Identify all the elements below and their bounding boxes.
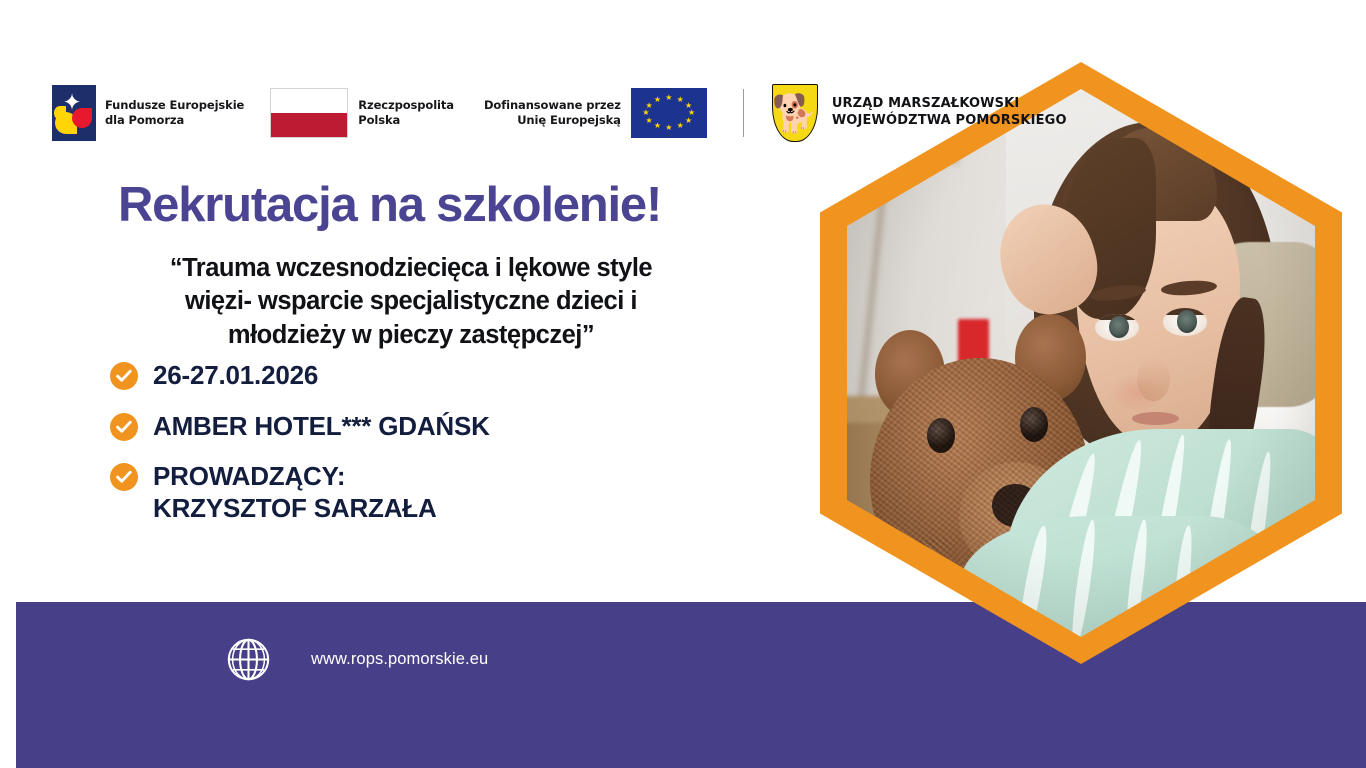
eu-star-icon: ★ — [645, 117, 653, 125]
eu-flag-icon: ★★★★★★★★★★★★ — [631, 88, 707, 138]
eu-star-icon: ★ — [665, 124, 673, 132]
logo-divider — [743, 89, 744, 137]
detail-venue: AMBER HOTEL*** GDAŃSK — [153, 411, 490, 443]
eu-star-icon: ★ — [665, 94, 673, 102]
logo-caption-polska: Rzeczpospolita Polska — [358, 98, 454, 127]
logo-caption-fundusze: Fundusze Europejskie dla Pomorza — [105, 98, 244, 127]
list-item: PROWADZĄCY: KRZYSZTOF SARZAŁA — [110, 461, 490, 524]
eu-star-icon: ★ — [642, 109, 650, 117]
logo-fundusze-europejskie: ✦ Fundusze Europejskie dla Pomorza — [52, 85, 244, 141]
training-subtitle-line: więzi- wsparcie specjalistyczne dzieci i — [104, 285, 718, 318]
footer-website-block[interactable]: www.rops.pomorskie.eu — [226, 637, 488, 682]
check-circle-icon — [110, 362, 138, 390]
eu-star-icon: ★ — [685, 117, 693, 125]
globe-icon — [226, 637, 271, 682]
check-circle-icon — [110, 413, 138, 441]
griffin-glyph: 🐕 — [772, 95, 818, 132]
eu-star-icon: ★ — [676, 122, 684, 130]
eu-star-icon: ★ — [645, 102, 653, 110]
detail-trainer: PROWADZĄCY: KRZYSZTOF SARZAŁA — [153, 461, 437, 524]
hexagon-photo-frame — [820, 62, 1342, 664]
polish-flag-icon — [270, 88, 348, 138]
logo-urzad-marszalkowski: 🐕 URZĄD MARSZAŁKOWSKI WOJEWÓDZTWA POMORS… — [772, 84, 1067, 142]
list-item: AMBER HOTEL*** GDAŃSK — [110, 411, 490, 443]
training-subtitle: “Trauma wczesnodziecięca i lękowe style … — [104, 252, 718, 352]
detail-date: 26-27.01.2026 — [153, 360, 318, 392]
page-title: Rekrutacja na szkolenie! — [118, 180, 661, 232]
check-circle-icon — [110, 463, 138, 491]
star-icon: ✦ — [61, 91, 83, 113]
logo-dofinansowane-ue: Dofinansowane przez Unię Europejską ★★★★… — [484, 88, 707, 138]
logo-caption-urzad: URZĄD MARSZAŁKOWSKI WOJEWÓDZTWA POMORSKI… — [832, 96, 1067, 130]
eu-star-icon: ★ — [653, 96, 661, 104]
footer-website-url[interactable]: www.rops.pomorskie.eu — [311, 650, 488, 669]
training-subtitle-line: “Trauma wczesnodziecięca i lękowe style — [104, 252, 718, 285]
training-details-list: 26-27.01.2026 AMBER HOTEL*** GDAŃSK PROW… — [110, 360, 490, 544]
header-logo-strip: ✦ Fundusze Europejskie dla Pomorza Rzecz… — [52, 82, 1067, 144]
eu-funds-star-logo-icon: ✦ — [52, 85, 96, 141]
eu-star-icon: ★ — [676, 96, 684, 104]
pomorskie-griffin-crest-icon: 🐕 — [772, 84, 818, 142]
logo-rzeczpospolita-polska: Rzeczpospolita Polska — [270, 88, 454, 138]
list-item: 26-27.01.2026 — [110, 360, 490, 392]
logo-caption-dofinansowane: Dofinansowane przez Unię Europejską — [484, 98, 621, 127]
training-subtitle-line: młodzieży w pieczy zastępczej” — [104, 319, 718, 352]
eu-star-icon: ★ — [653, 122, 661, 130]
